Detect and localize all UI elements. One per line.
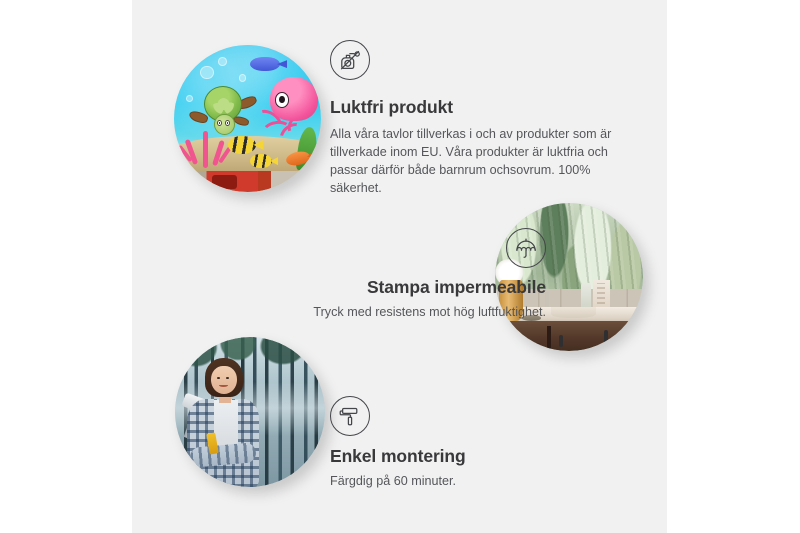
feature-image-odour-free xyxy=(174,45,321,192)
icon-row-waterproof xyxy=(216,228,546,268)
product-feature-banner: Luktfri produkt Alla våra tavlor tillver… xyxy=(0,0,800,533)
feature-title-odour-free: Luktfri produkt xyxy=(330,97,630,119)
icon-row-easy-mounting xyxy=(330,396,630,436)
icon-row-odour-free xyxy=(330,40,630,80)
feature-title-easy-mounting: Enkel montering xyxy=(330,446,630,468)
feature-image-easy-mounting xyxy=(175,337,325,487)
feature-description-easy-mounting: Färgdig på 60 minuter. xyxy=(330,473,630,491)
feature-description-waterproof: Tryck med resistens mot hög luftfuktighe… xyxy=(216,304,546,322)
content-panel: Luktfri produkt Alla våra tavlor tillver… xyxy=(132,0,667,533)
feature-block-waterproof: Stampa impermeabile Tryck med resistens … xyxy=(216,228,546,322)
feature-block-easy-mounting: Enkel montering Färgdig på 60 minuter. xyxy=(330,396,630,491)
no-perfume-icon xyxy=(330,40,370,80)
feature-block-odour-free: Luktfri produkt Alla våra tavlor tillver… xyxy=(330,40,630,197)
umbrella-icon xyxy=(506,228,546,268)
feature-description-odour-free: Alla våra tavlor tillverkas i och av pro… xyxy=(330,126,622,198)
feature-title-waterproof: Stampa impermeabile xyxy=(216,277,546,299)
paint-roller-icon xyxy=(330,396,370,436)
